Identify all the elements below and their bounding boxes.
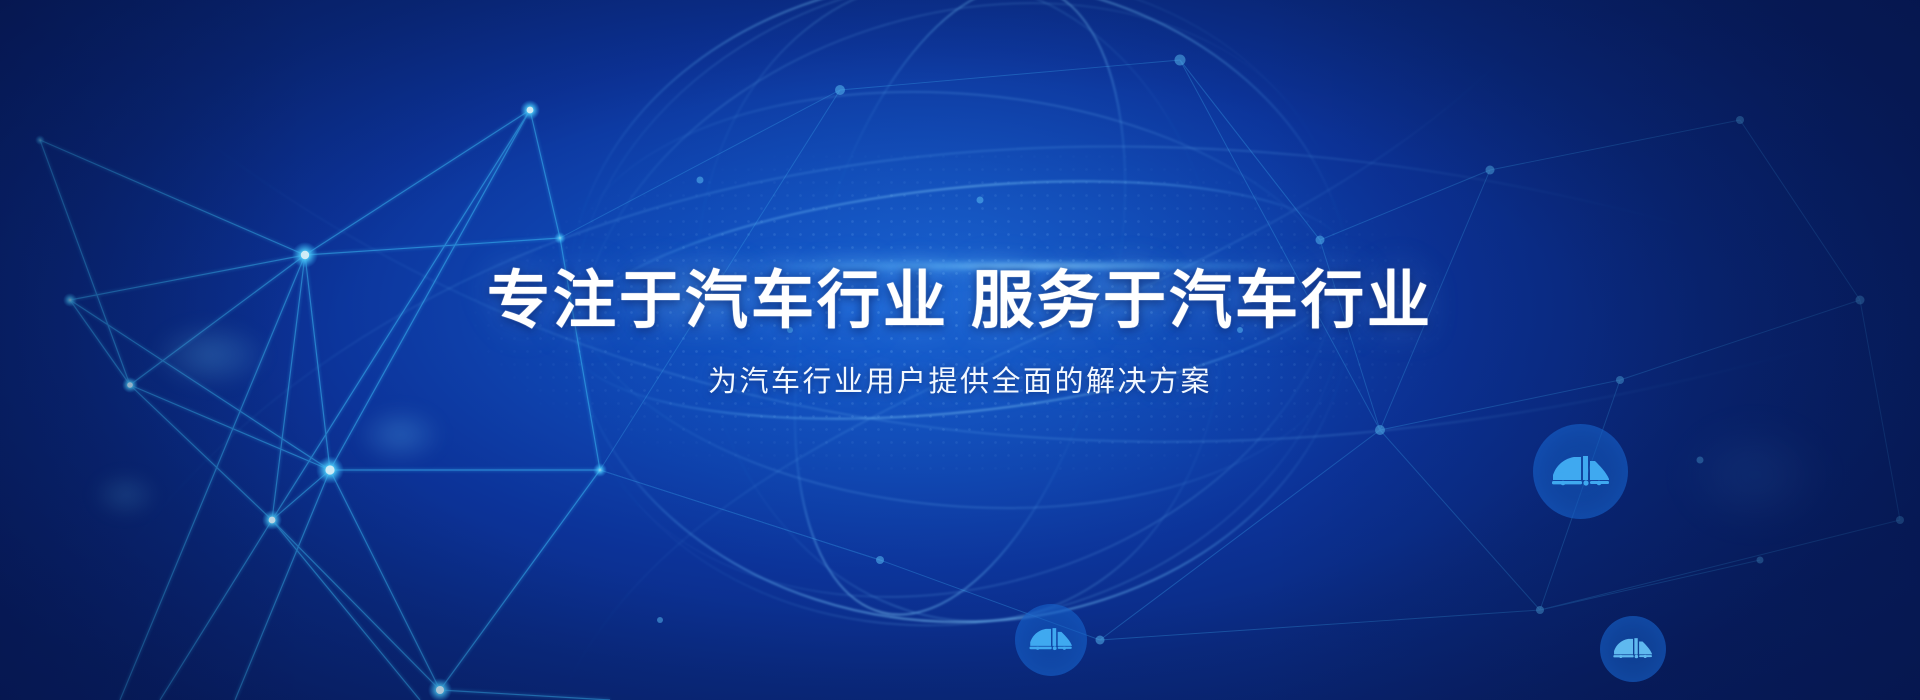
- hero-banner: 专注于汽车行业服务于汽车行业 为汽车行业用户提供全面的解决方案: [0, 0, 1920, 700]
- truck-badge-icon: [1028, 625, 1074, 655]
- truck-badge-center-lower: [1015, 604, 1087, 676]
- hero-copy: 专注于汽车行业服务于汽车行业 为汽车行业用户提供全面的解决方案: [0, 268, 1920, 400]
- headline-part-2: 服务于汽车行业: [971, 266, 1433, 336]
- headline-part-1: 专注于汽车行业: [487, 266, 949, 336]
- page-subtitle: 为汽车行业用户提供全面的解决方案: [0, 358, 1920, 400]
- truck-badge-right-lower: [1600, 616, 1666, 682]
- truck-badge-right-upper: [1533, 424, 1628, 519]
- truck-badge-icon: [1612, 635, 1654, 663]
- page-title: 专注于汽车行业服务于汽车行业: [0, 268, 1920, 334]
- truck-badge-icon: [1550, 452, 1612, 492]
